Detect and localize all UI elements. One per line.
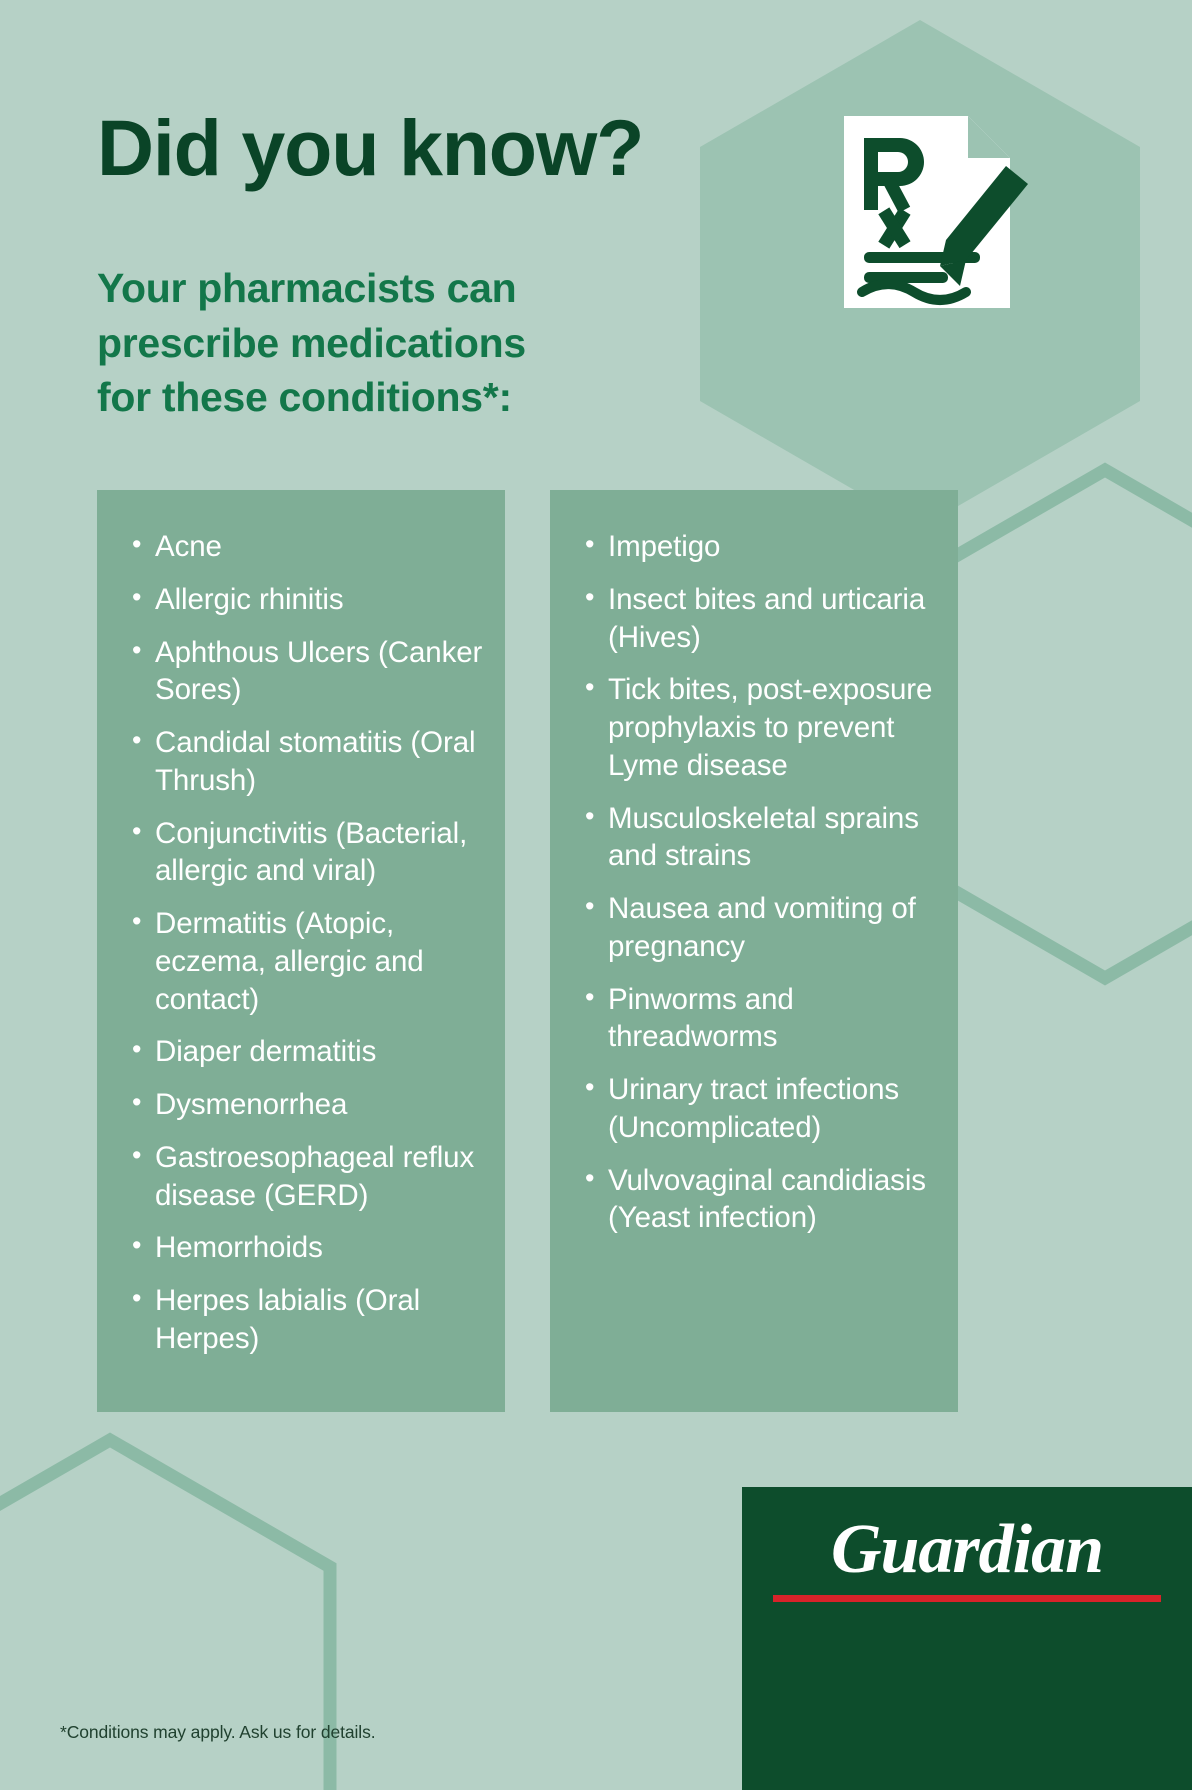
conditions-panel-right: Impetigo Insect bites and urticaria (Hiv… (550, 490, 958, 1412)
list-item: Dermatitis (Atopic, eczema, allergic and… (117, 905, 485, 1018)
list-item: Aphthous Ulcers (Canker Sores) (117, 634, 485, 710)
subtitle-line-2: prescribe medications (97, 316, 757, 371)
conditions-panel-left: Acne Allergic rhinitis Aphthous Ulcers (… (97, 490, 505, 1412)
list-item: Conjunctivitis (Bacterial, allergic and … (117, 815, 485, 891)
list-item: Vulvovaginal candidiasis (Yeast infectio… (570, 1162, 938, 1238)
footnote-disclaimer: *Conditions may apply. Ask us for detail… (60, 1722, 376, 1743)
list-item: Diaper dermatitis (117, 1033, 485, 1071)
list-item: Candidal stomatitis (Oral Thrush) (117, 724, 485, 800)
guardian-logo-text: Guardian (831, 1515, 1103, 1585)
list-item: Dysmenorrhea (117, 1086, 485, 1124)
list-item: Gastroesophageal reflux disease (GERD) (117, 1139, 485, 1215)
list-item: Acne (117, 528, 485, 566)
list-item: Nausea and vomiting of pregnancy (570, 890, 938, 966)
guardian-logo: Guardian (742, 1487, 1192, 1790)
list-item: Pinworms and threadworms (570, 981, 938, 1057)
list-item: Hemorrhoids (117, 1229, 485, 1267)
poster-header: Did you know? Your pharmacists can presc… (97, 108, 757, 425)
list-item: Insect bites and urticaria (Hives) (570, 581, 938, 657)
list-item: Musculoskeletal sprains and strains (570, 800, 938, 876)
list-item: Allergic rhinitis (117, 581, 485, 619)
rx-prescription-pad-icon (838, 112, 1028, 327)
list-item: Impetigo (570, 528, 938, 566)
list-item: Tick bites, post-exposure prophylaxis to… (570, 671, 938, 784)
subtitle-line-1: Your pharmacists can (97, 261, 757, 316)
conditions-list-left: Acne Allergic rhinitis Aphthous Ulcers (… (117, 528, 485, 1358)
subtitle-line-3: for these conditions*: (97, 370, 757, 425)
list-item: Urinary tract infections (Uncomplicated) (570, 1071, 938, 1147)
conditions-panels: Acne Allergic rhinitis Aphthous Ulcers (… (97, 490, 1097, 1412)
page-title: Did you know? (97, 108, 757, 187)
list-item: Herpes labialis (Oral Herpes) (117, 1282, 485, 1358)
poster-root: Did you know? Your pharmacists can presc… (0, 0, 1192, 1790)
page-subtitle: Your pharmacists can prescribe medicatio… (97, 261, 757, 425)
conditions-list-right: Impetigo Insect bites and urticaria (Hiv… (570, 528, 938, 1237)
guardian-logo-underline (773, 1595, 1161, 1602)
